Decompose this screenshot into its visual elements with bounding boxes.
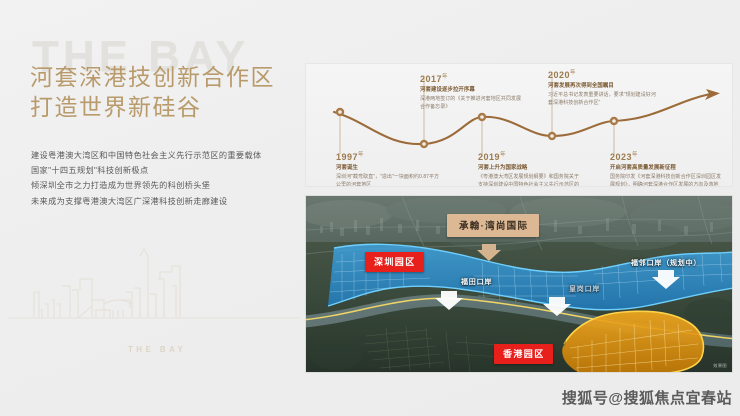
timeline-entry-2019[interactable]: 2019年 河套上升为国家战略 《粤港澳大湾区发展规划纲要》和国务院关于支持深圳… [478, 150, 580, 187]
list-item: 倾深圳全市之力打造成为世界领先的科创桥头堡 [31, 178, 293, 193]
timeline-entry-2017[interactable]: 2017年 河套建设逐步拉开序幕 深港两地签订的《关于推进河套地区共同发展合作备… [420, 72, 524, 111]
timeline-desc: 习近平总书记发表重要讲话，要求"规划建设好河套深港科技创新合作区" [548, 92, 656, 107]
map-credit-note: 效果图 [713, 363, 727, 369]
timeline-title: 河套发展再次得到全国瞩目 [548, 83, 656, 91]
map-label-huanggang-port[interactable]: 皇岗口岸 [569, 284, 600, 294]
skyline-caption-text: THE BAY [128, 345, 186, 354]
bullet-list: 建设粤港澳大湾区和中国特色社会主义先行示范区的重要载体 国家"十四五规划"科技创… [31, 148, 293, 209]
timeline-title: 开启河套高质量发展新征程 [610, 165, 722, 173]
timeline-entry-2023[interactable]: 2023年 开启河套高质量发展新征程 国务院印发《河套深港科技创新合作区深圳园区… [610, 150, 722, 187]
timeline-title: 河套诞生 [336, 165, 440, 173]
timeline-year-2023: 2023年 [610, 150, 722, 163]
timeline-year-1997: 1997年 [336, 150, 440, 163]
timeline-title: 河套上升为国家战略 [478, 165, 580, 173]
headline-line-2: 打造世界新硅谷 [30, 92, 275, 122]
timeline-entry-1997[interactable]: 1997年 河套诞生 深圳河"截弯取直"，"造出"一块面积约0.87平方公里的河… [336, 150, 440, 187]
timeline-title: 河套建设逐步拉开序幕 [420, 87, 524, 95]
map-label-fulin-port-planned[interactable]: 福邻口岸（规划中） [631, 258, 701, 268]
aerial-map-panel[interactable]: 承翰·湾尚国际 深圳园区 香港园区 福田口岸 皇岗口岸 福邻口岸（规划中） 效果… [305, 195, 733, 373]
list-item: 未来成为支撑粤港澳大湾区广深港科技创新走廊建设 [31, 194, 293, 209]
timeline-panel: 1997年 河套诞生 深圳河"截弯取直"，"造出"一块面积约0.87平方公里的河… [305, 63, 733, 187]
slide-root: THE BAY 河套深港技创新合作区 打造世界新硅谷 建设粤港澳大湾区和中国特色… [0, 0, 740, 416]
map-label-shenzhen-park[interactable]: 深圳园区 [365, 252, 424, 272]
headline-line-1: 河套深港技创新合作区 [30, 62, 275, 92]
timeline-entry-2020[interactable]: 2020年 河套发展再次得到全国瞩目 习近平总书记发表重要讲话，要求"规划建设好… [548, 68, 656, 107]
left-text-panel: THE BAY 河套深港技创新合作区 打造世界新硅谷 建设粤港澳大湾区和中国特色… [0, 0, 300, 416]
page-title: 河套深港技创新合作区 打造世界新硅谷 [30, 62, 275, 122]
list-item: 国家"十四五规划"科技创新极点 [31, 163, 293, 178]
timeline-year-2019: 2019年 [478, 150, 580, 163]
timeline-desc: 国务院印发《河套深港科技创新合作区深圳园区发展规划》，明确河套深港合作区发展的方… [610, 174, 722, 187]
sohu-watermark: 搜狐号@搜狐焦点宜春站 [562, 387, 732, 408]
map-label-futian-port[interactable]: 福田口岸 [461, 277, 492, 287]
timeline-desc: 深圳河"截弯取直"，"造出"一块面积约0.87平方公里的河套地区 [336, 174, 440, 187]
timeline-year-2017: 2017年 [420, 72, 524, 85]
list-item: 建设粤港澳大湾区和中国特色社会主义先行示范区的重要载体 [31, 148, 293, 163]
map-label-chenghan-wanshang-international[interactable]: 承翰·湾尚国际 [447, 214, 539, 237]
timeline-year-2020: 2020年 [548, 68, 656, 81]
timeline-desc: 深港两地签订的《关于推进河套地区共同发展合作备忘录》 [420, 96, 524, 111]
map-label-hongkong-park[interactable]: 香港园区 [494, 344, 553, 364]
timeline-desc: 《粤港澳大湾区发展规划纲要》和国务院关于支持深圳建设中国特色社会主义先行示范区的… [478, 174, 580, 187]
